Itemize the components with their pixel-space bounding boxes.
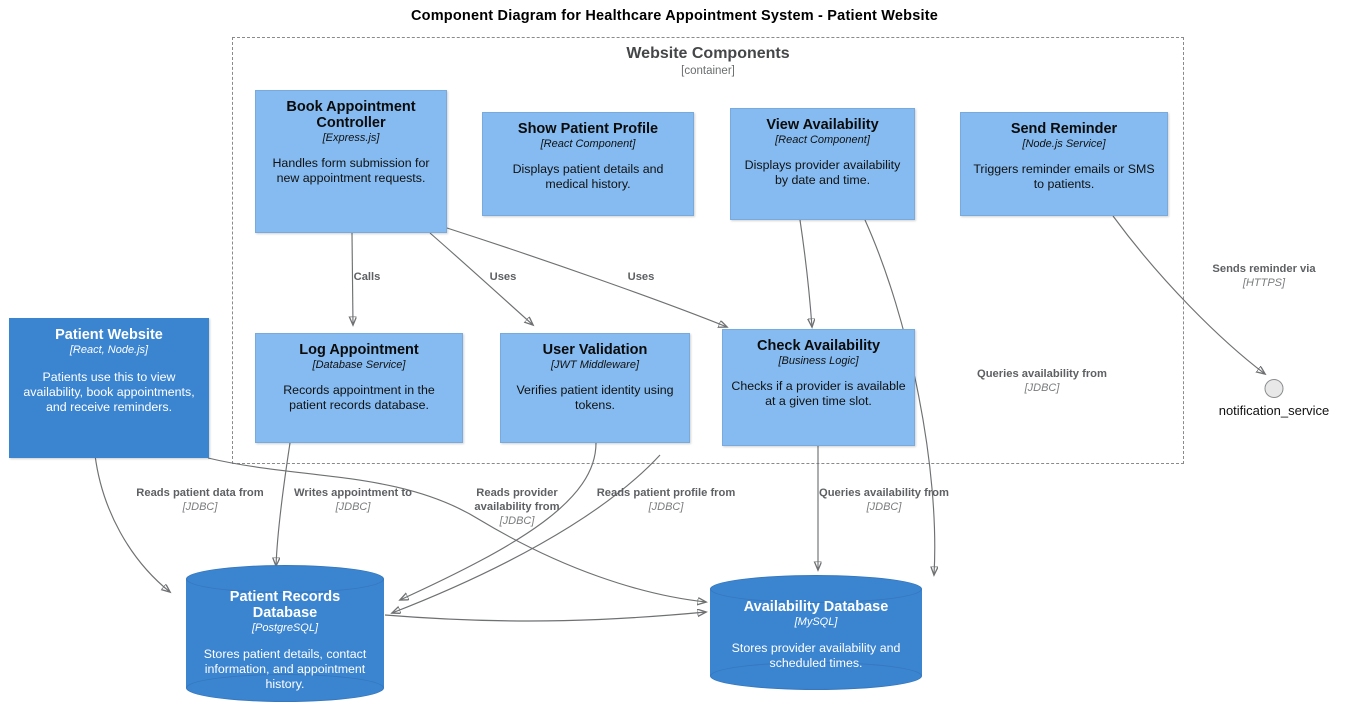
node-view-availability-tech: [React Component] (775, 134, 870, 147)
edge-label-writes-appointment: Writes appointment to [JDBC] (282, 486, 424, 515)
node-show-patient-profile-desc: Displays patient details and medical his… (491, 162, 685, 192)
node-view-availability-name: View Availability (766, 117, 878, 133)
container-boundary-title: Website Components (232, 45, 1184, 63)
node-availability-database-text: Availability Database [MySQL] Stores pro… (710, 599, 922, 671)
node-log-appointment[interactable]: Log Appointment [Database Service] Recor… (255, 333, 463, 443)
node-patient-website-tech: [React, Node.js] (70, 344, 148, 357)
node-availability-database-tech: [MySQL] (720, 616, 912, 628)
node-user-validation[interactable]: User Validation [JWT Middleware] Verifie… (500, 333, 690, 443)
edge-label-sends-reminder-via: Sends reminder via [HTTPS] (1182, 262, 1346, 291)
node-log-appointment-desc: Records appointment in the patient recor… (264, 383, 454, 413)
edge-label-queries-availability-mid: Queries availability from [JDBC] (966, 367, 1118, 396)
page-title: Component Diagram for Healthcare Appoint… (0, 8, 1349, 24)
node-log-appointment-tech: [Database Service] (313, 359, 406, 372)
edge-label-calls: Calls (332, 270, 402, 284)
node-patient-website-name: Patient Website (55, 327, 163, 343)
node-user-validation-name: User Validation (543, 342, 648, 358)
node-patient-records-database-tech: [PostgreSQL] (196, 622, 374, 634)
diagram-canvas: Component Diagram for Healthcare Appoint… (0, 0, 1349, 718)
node-send-reminder[interactable]: Send Reminder [Node.js Service] Triggers… (960, 112, 1168, 216)
node-show-patient-profile-tech: [React Component] (541, 138, 636, 151)
container-boundary-tech: [container] (232, 65, 1184, 77)
node-user-validation-desc: Verifies patient identity using tokens. (509, 383, 681, 413)
node-log-appointment-name: Log Appointment (299, 342, 418, 358)
node-view-availability-desc: Displays provider availability by date a… (739, 158, 906, 188)
node-show-patient-profile-name: Show Patient Profile (518, 121, 658, 137)
node-patient-records-database[interactable]: Patient Records Database [PostgreSQL] St… (186, 565, 384, 702)
node-patient-records-database-name: Patient Records Database (196, 589, 374, 621)
node-send-reminder-desc: Triggers reminder emails or SMS to patie… (969, 162, 1159, 192)
node-show-patient-profile[interactable]: Show Patient Profile [React Component] D… (482, 112, 694, 216)
edge-label-reads-provider-availability: Reads provider availability from [JDBC] (452, 486, 582, 529)
node-book-appointment-controller[interactable]: Book Appointment Controller [Express.js]… (255, 90, 447, 233)
node-book-appointment-controller-desc: Handles form submission for new appointm… (264, 156, 438, 186)
node-send-reminder-name: Send Reminder (1011, 121, 1117, 137)
node-send-reminder-tech: [Node.js Service] (1022, 138, 1105, 151)
node-availability-database[interactable]: Availability Database [MySQL] Stores pro… (710, 575, 922, 690)
node-book-appointment-controller-name: Book Appointment Controller (264, 99, 438, 131)
node-notification-service[interactable]: notification_service (1206, 379, 1342, 423)
node-user-validation-tech: [JWT Middleware] (551, 359, 639, 372)
node-patient-records-database-desc: Stores patient details, contact informat… (196, 647, 374, 692)
node-availability-database-desc: Stores provider availability and schedul… (720, 641, 912, 671)
circle-icon (1265, 379, 1284, 398)
node-patient-website-desc: Patients use this to view availability, … (18, 370, 200, 415)
node-check-availability[interactable]: Check Availability [Business Logic] Chec… (722, 329, 915, 446)
node-availability-database-name: Availability Database (720, 599, 912, 615)
node-book-appointment-controller-tech: [Express.js] (323, 132, 380, 145)
node-check-availability-desc: Checks if a provider is available at a g… (731, 379, 906, 409)
node-notification-service-label: notification_service (1219, 403, 1330, 418)
edge-label-reads-patient-profile: Reads patient profile from [JDBC] (592, 486, 740, 515)
node-view-availability[interactable]: View Availability [React Component] Disp… (730, 108, 915, 220)
edge-label-queries-availability-bottom: Queries availability from [JDBC] (812, 486, 956, 515)
edge-label-uses-check: Uses (608, 270, 674, 284)
node-check-availability-tech: [Business Logic] (778, 355, 858, 368)
node-patient-website[interactable]: Patient Website [React, Node.js] Patient… (9, 318, 209, 458)
edge-label-reads-patient-data: Reads patient data from [JDBC] (129, 486, 271, 515)
node-check-availability-name: Check Availability (757, 338, 880, 354)
edge-label-uses-validation: Uses (470, 270, 536, 284)
node-patient-records-database-text: Patient Records Database [PostgreSQL] St… (186, 589, 384, 692)
